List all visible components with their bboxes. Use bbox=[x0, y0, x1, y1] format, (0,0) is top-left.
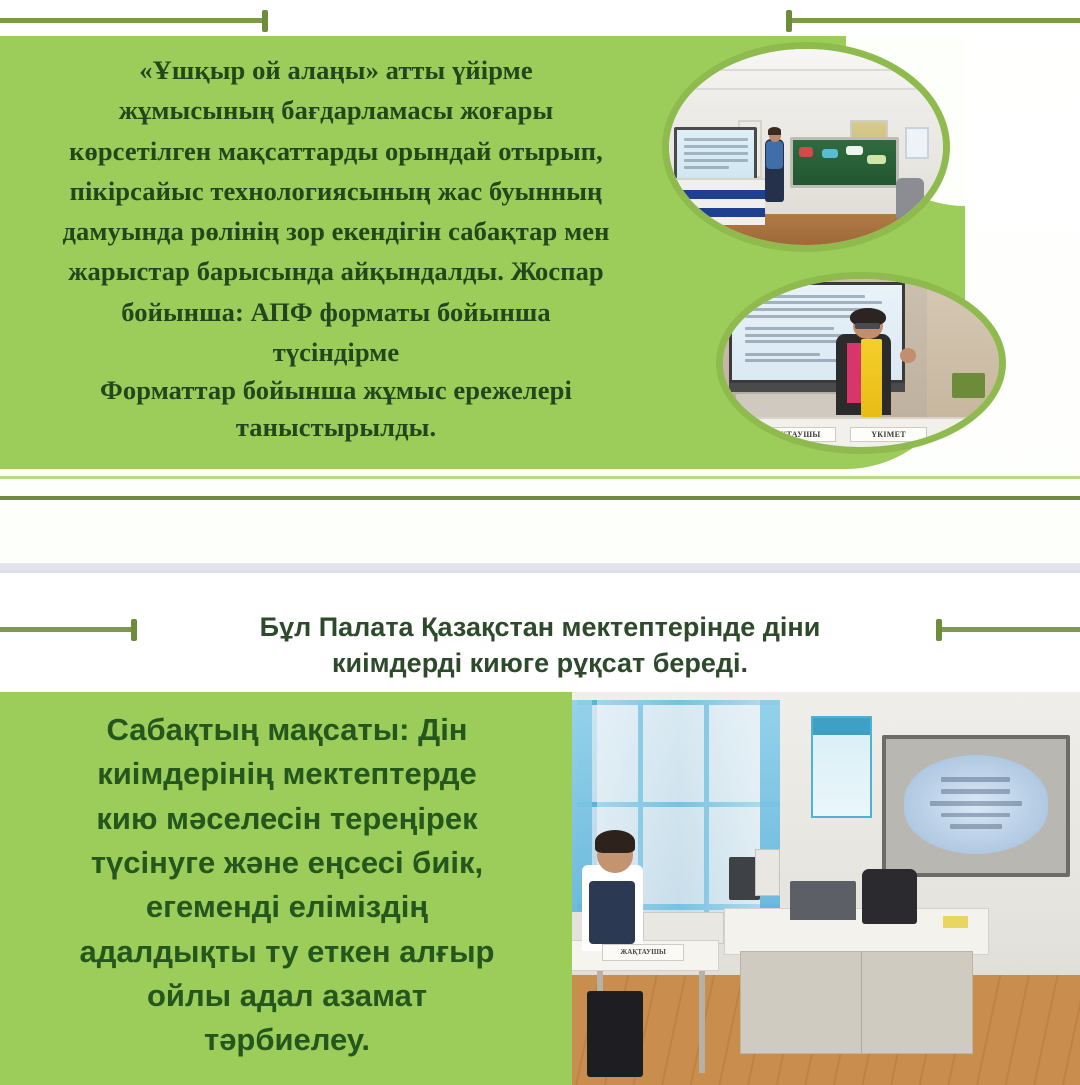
photo-a-screen-textline bbox=[684, 138, 748, 141]
slide-1-body-text: «Ұшқыр ой алаңы» атты үйірме жұмысының б… bbox=[26, 50, 646, 445]
decorative-rule-cap-mid-left bbox=[131, 619, 137, 641]
decorative-rule-cap-top-right bbox=[786, 10, 792, 32]
photo-2-desk-leg bbox=[699, 971, 705, 1073]
photo-a-screen-textline bbox=[684, 145, 748, 148]
photo-b-screen-textline bbox=[745, 295, 864, 298]
slide-2-heading: Бұл Палата Қазақстан мектептерінде діни … bbox=[160, 609, 920, 682]
photo-2-slide-textline bbox=[930, 801, 1022, 806]
photo-2-poster-header bbox=[813, 718, 870, 736]
photo-a-counter-stripe bbox=[669, 190, 765, 199]
photo-2-projected-slide bbox=[904, 755, 1048, 854]
photo-classroom-student-projector: ЖАҚТАУШЫ bbox=[572, 692, 1080, 1085]
slide-2-body-text: Сабақтың мақсаты: Дін киімдерінің мектеп… bbox=[14, 708, 560, 1063]
slide-1-line-4: дамуында рөлінің зор екендігін сабақтар … bbox=[26, 211, 646, 251]
photo-b-screen-textline bbox=[745, 340, 844, 343]
photo-a-chalkboard bbox=[790, 137, 900, 188]
photo-a-wall-poster bbox=[905, 127, 930, 158]
photo-a-board-card bbox=[846, 146, 863, 155]
photo-2-student-placard: ЖАҚТАУШЫ bbox=[602, 944, 683, 962]
slide-1-line-7: түсіндірме bbox=[26, 332, 646, 372]
photo-2-student-hair bbox=[595, 830, 636, 854]
slide-1-line-2: көрсетілген мақсаттарды орындай отырып, bbox=[26, 131, 646, 171]
photo-b-screen-textline bbox=[745, 315, 851, 318]
photo-a-ceiling-line bbox=[696, 88, 915, 90]
slide-1-soft-underline bbox=[0, 476, 1080, 479]
photo-2-student-legs bbox=[587, 991, 643, 1077]
slide-1-line-3: пікірсайыс технологиясының жас буынның bbox=[26, 171, 646, 211]
slide-1-line-5: жарыстар барысында айқындалды. Жоспар bbox=[26, 251, 646, 291]
photo-a-content bbox=[669, 49, 943, 245]
photo-2-teacher-desk-cabinet bbox=[740, 951, 974, 1053]
slide-1-line-0: «Ұшқыр ой алаңы» атты үйірме bbox=[26, 50, 646, 90]
slide-1: «Ұшқыр ой алаңы» атты үйірме жұмысының б… bbox=[0, 0, 1080, 565]
photo-2-office-chair bbox=[862, 869, 918, 924]
photo-a-board-card bbox=[822, 149, 839, 158]
decorative-rule-cap-top-left bbox=[262, 10, 268, 32]
photo-2-slide-textline bbox=[941, 777, 1010, 782]
photo-b-green-box bbox=[952, 373, 985, 398]
photo-a-ceiling-line bbox=[683, 69, 930, 71]
photo-a-student bbox=[896, 178, 923, 217]
photo-a-display-screen bbox=[674, 127, 756, 184]
slide-separator-band bbox=[0, 563, 1080, 573]
slide-2-green-panel: Сабақтың мақсаты: Дін киімдерінің мектеп… bbox=[0, 692, 572, 1085]
photo-b-teacher-yellow-sash bbox=[861, 339, 882, 416]
slide-2-heading-line-1: киімдерді киюге рұқсат береді. bbox=[160, 645, 920, 681]
decorative-rule-cap-mid-right bbox=[936, 619, 942, 641]
slide-1-tail-1: таныстырылды. bbox=[26, 409, 646, 446]
photo-b-content: ЖАҚТАУШЫ ҮКІМЕТ bbox=[723, 279, 999, 447]
photo-a-board-card bbox=[867, 155, 886, 164]
photo-a-board-card bbox=[799, 147, 814, 157]
photo-2-equipment-box bbox=[755, 849, 780, 896]
photo-a-teacher-scarf bbox=[766, 141, 782, 168]
slide-1-tail-0: Форматтар бойынша жұмыс ережелері bbox=[26, 372, 646, 409]
photo-teacher-yellow-sash: ЖАҚТАУШЫ ҮКІМЕТ bbox=[716, 272, 1006, 454]
photo-a-screen-textline bbox=[684, 166, 730, 169]
slide-1-line-1: жұмысының бағдарламасы жоғары bbox=[26, 90, 646, 130]
photo-2-slide-textline bbox=[941, 813, 1010, 818]
photo-2-yellow-item bbox=[943, 916, 968, 928]
photo-2-slide-textline bbox=[950, 824, 1002, 829]
slide-2-line-2: кию мәселесін тереңірек bbox=[14, 797, 560, 841]
slide-1-line-6: бойынша: АПФ форматы бойынша bbox=[26, 292, 646, 332]
photo-b-screen-textline bbox=[745, 353, 820, 356]
slide-2-line-5: адалдықты ту еткен алғыр bbox=[14, 930, 560, 974]
photo-2-interactive-whiteboard bbox=[882, 735, 1070, 876]
photo-b-screen-textline bbox=[745, 308, 871, 311]
photo-b-screen-textline bbox=[745, 327, 834, 330]
photo-2-wall-poster bbox=[811, 716, 872, 818]
slide-2-line-3: түсінуге және еңсесі биік, bbox=[14, 841, 560, 885]
photo-2-student-vest bbox=[589, 881, 635, 944]
photo-b-placard-right: ҮКІМЕТ bbox=[850, 427, 927, 442]
photo-2-cabinet-seam bbox=[861, 952, 862, 1052]
decorative-rule-top-left bbox=[0, 18, 266, 23]
slide-2-line-0: Сабақтың мақсаты: Дін bbox=[14, 708, 560, 752]
photo-b-teacher-hand bbox=[900, 348, 917, 363]
photo-b-teacher-glasses bbox=[855, 323, 880, 329]
slide-collage-page: «Ұшқыр ой алаңы» атты үйірме жұмысының б… bbox=[0, 0, 1080, 1085]
slide-2-line-4: егеменді еліміздің bbox=[14, 885, 560, 929]
photo-2-slide-textline bbox=[941, 789, 1010, 794]
slide-2: Бұл Палата Қазақстан мектептерінде діни … bbox=[0, 573, 1080, 1085]
slide-1-bottom-rule bbox=[0, 496, 1080, 500]
decorative-rule-mid-left bbox=[0, 627, 134, 632]
photo-b-screen-textline bbox=[745, 359, 841, 362]
photo-b-placard-left: ЖАҚТАУШЫ bbox=[751, 427, 837, 442]
photo-b-screen-textline bbox=[745, 301, 882, 304]
photo-a-counter bbox=[669, 178, 765, 225]
photo-a-counter-stripe bbox=[669, 208, 765, 217]
slide-2-heading-line-0: Бұл Палата Қазақстан мектептерінде діни bbox=[160, 609, 920, 645]
photo-2-laptop bbox=[790, 881, 856, 920]
photo-classroom-teacher-board bbox=[662, 42, 950, 252]
decorative-rule-top-right bbox=[790, 18, 1080, 23]
decorative-rule-mid-right bbox=[940, 627, 1080, 632]
photo-a-screen-textline bbox=[684, 152, 748, 155]
photo-a-teacher-hair bbox=[768, 127, 781, 135]
slide-2-line-1: киімдерінің мектептерде bbox=[14, 752, 560, 796]
photo-a-ceiling bbox=[669, 49, 943, 112]
slide-2-line-6: ойлы адал азамат bbox=[14, 974, 560, 1018]
slide-2-line-7: тәрбиелеу. bbox=[14, 1018, 560, 1062]
photo-a-screen-textline bbox=[684, 159, 748, 162]
